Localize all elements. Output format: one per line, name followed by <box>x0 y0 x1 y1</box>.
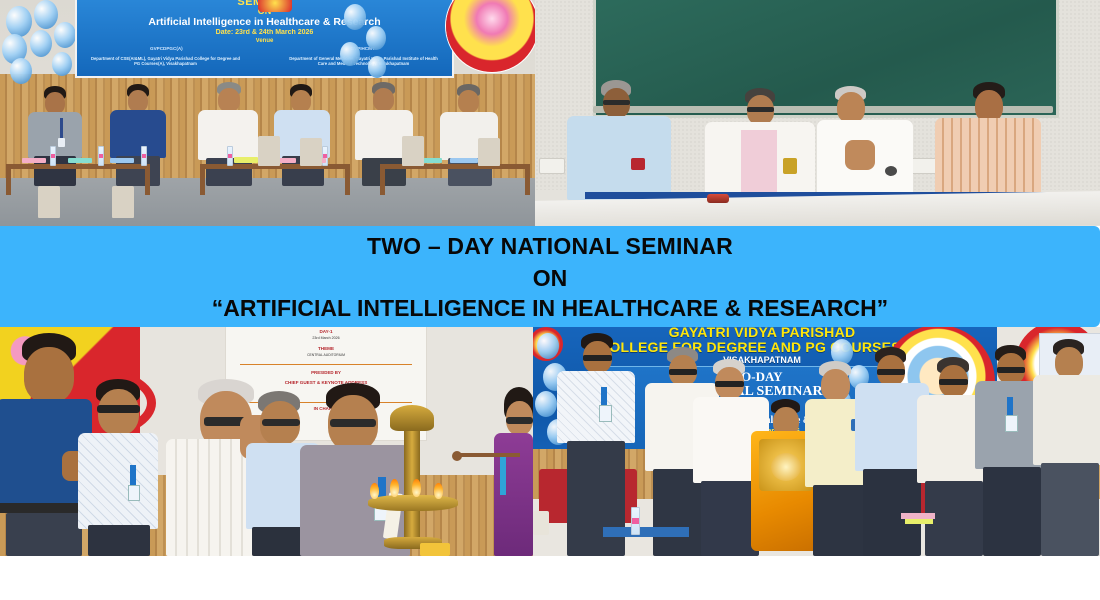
id-card <box>599 405 612 422</box>
screen-line-venue: CENTRAL AUDITORIUM <box>226 353 426 357</box>
power-socket <box>539 158 565 174</box>
remote-control <box>707 194 729 203</box>
desk-paper <box>234 157 258 163</box>
id-card <box>1005 415 1018 432</box>
balloon <box>52 52 72 76</box>
lamp-oil-tray <box>368 495 458 511</box>
balloon <box>344 4 366 30</box>
title-line-1: TWO – DAY NATIONAL SEMINAR <box>0 233 1100 260</box>
table-leg <box>380 169 385 195</box>
emblem-badge-icon <box>783 158 797 174</box>
table-leg <box>200 169 205 195</box>
water-bottle <box>98 146 104 166</box>
screen-line-day: DAY-1 <box>226 329 426 334</box>
banner-dept-left: Department of CSE(AI&ML), Gayatri Vidya … <box>89 56 242 66</box>
water-bottle <box>141 146 147 166</box>
photo-faculty-panel <box>535 0 1100 226</box>
eyeglasses-icon <box>330 419 376 427</box>
table-runner <box>603 527 689 537</box>
lamp-flame <box>370 483 379 499</box>
water-bottle <box>631 507 640 535</box>
eyeglasses-icon <box>97 405 140 413</box>
screen-line-presided: PRESIDED BY <box>226 370 426 375</box>
gift-bag <box>402 136 424 166</box>
eyeglasses-icon <box>939 379 968 385</box>
gift-bag <box>38 186 60 218</box>
balloon <box>366 26 386 50</box>
desk-paper <box>110 158 134 163</box>
marigold-garland <box>420 543 450 556</box>
title-line-2: ON <box>0 265 1100 292</box>
desk-paper <box>450 158 478 163</box>
water-bottle <box>227 146 233 166</box>
desk-item <box>533 511 549 535</box>
balloon <box>30 30 52 57</box>
screen-line-date: 23rd March 2026 <box>226 336 426 340</box>
photo-inaugural-stage: SEMINAR ON Artificial Intelligence in He… <box>0 0 535 226</box>
title-line-3: “ARTIFICIAL INTELLIGENCE IN HEALTHCARE &… <box>0 295 1100 322</box>
lamp-flame <box>412 479 421 497</box>
eyeglasses-icon <box>583 355 612 361</box>
eyeglasses-icon <box>262 419 300 426</box>
gift-bag <box>112 186 134 218</box>
balloon <box>10 58 32 84</box>
balloon <box>537 333 559 359</box>
id-card <box>128 485 140 501</box>
banner-date-line: Date: 23rd & 24th March 2026 <box>77 29 452 36</box>
banner-theme-line: Artificial Intelligence in Healthcare & … <box>77 16 452 28</box>
desk-paper <box>905 519 933 524</box>
balloon <box>340 42 360 66</box>
gift-bag <box>478 138 500 166</box>
lamp-flame <box>434 483 443 499</box>
wristwatch-icon <box>885 166 897 176</box>
lamp-flame <box>390 479 399 497</box>
table-leg <box>345 169 350 195</box>
eyeglasses-icon <box>506 417 533 424</box>
banner-venue-line: Venue <box>77 38 452 44</box>
table-leg <box>6 169 11 195</box>
desk-paper <box>68 158 92 163</box>
eyeglasses-icon <box>997 367 1025 373</box>
table-leg <box>145 169 150 195</box>
gift-bag <box>300 138 322 166</box>
balloon <box>54 22 76 48</box>
id-lanyard <box>130 465 136 487</box>
screen-line-theme-label: THEME <box>226 346 426 351</box>
banner-dept-right: Department of General Medicine, Gayatri … <box>287 56 440 66</box>
desk-paper <box>22 158 46 163</box>
screen-line-chief-guest: CHIEF GUEST & KEYNOTE ADDRESS <box>226 380 426 385</box>
photo-memento-presentation: GAYATRI VIDYA PARISHAD COLLEGE FOR DEGRE… <box>533 327 1100 556</box>
balloon <box>535 391 557 417</box>
memento-medallion <box>771 453 801 481</box>
water-bottle <box>50 146 56 166</box>
eyeglasses-icon <box>669 369 697 375</box>
balloon <box>6 6 32 37</box>
stage-table <box>6 164 150 169</box>
page-bottom-margin <box>0 556 1100 600</box>
lamp-finial <box>390 405 434 431</box>
college-crest-icon <box>258 0 292 12</box>
balloon <box>368 56 386 78</box>
water-bottle <box>322 146 328 166</box>
curtain-rod <box>460 453 520 457</box>
balloon <box>34 0 58 29</box>
banner-day2: GVPIHCMT <box>283 46 442 51</box>
table-leg <box>525 169 530 195</box>
eyeglasses-icon <box>715 381 744 387</box>
clasped-hands <box>845 140 875 170</box>
gift-bag <box>258 136 280 166</box>
seminar-title-band: TWO – DAY NATIONAL SEMINAR ON “ARTIFICIA… <box>0 226 1100 327</box>
eyeglasses-icon <box>877 369 905 375</box>
banner-day1: GVPCDPGC(A) <box>87 46 246 51</box>
id-lanyard <box>500 455 506 495</box>
photo-collage: SEMINAR ON Artificial Intelligence in He… <box>0 0 1100 600</box>
photo-lamp-lighting: “ARTIFICIAL INTELLIGENCE IN HEALTHCARE &… <box>0 327 533 556</box>
